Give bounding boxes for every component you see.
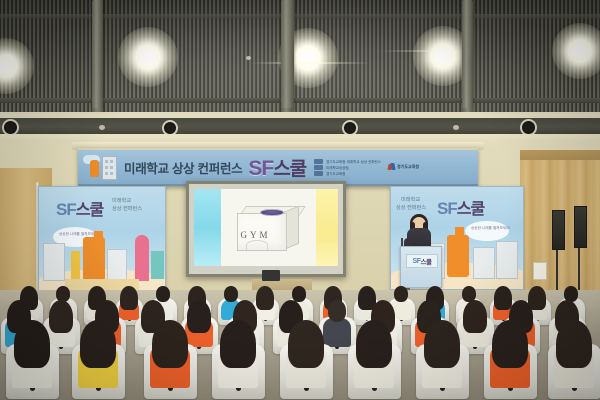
left-banner-sub2: 상상 컨퍼런스 xyxy=(112,206,142,213)
person-head xyxy=(328,300,347,322)
banner-credit-row: 경기도교육청·미래학교 상상 컨퍼런스 xyxy=(314,159,381,164)
lens-flare xyxy=(250,62,370,64)
model-arc xyxy=(246,240,268,250)
person-long-hair xyxy=(220,320,255,368)
left-banner-logo: SF 스쿨 xyxy=(56,196,103,220)
wall-fixture-dot xyxy=(99,125,105,130)
audience-person xyxy=(552,320,596,396)
model-label: GYM xyxy=(240,230,270,240)
person-long-hair xyxy=(14,320,49,368)
ceiling-light-core xyxy=(572,44,587,59)
projection-screen-frame: GYM xyxy=(186,181,346,277)
gov-logo-label: 경기도교육청 xyxy=(397,164,419,170)
roof-column xyxy=(92,0,103,112)
banner-logo-ko: 스쿨 xyxy=(273,154,306,181)
banner-title: 미래학교 상상 컨퍼런스 xyxy=(124,158,242,177)
right-banner-sub1: 미래학교 xyxy=(401,197,420,204)
wall-fixture-dot xyxy=(453,125,459,130)
left-side-banner: SF 스쿨 미래학교 상상 컨퍼런스 상상한 나래를 펼쳐보세요! xyxy=(38,186,166,296)
banner-credit-row: 경기도교육청 xyxy=(314,171,381,176)
audience-person xyxy=(284,320,328,396)
audience-person xyxy=(420,320,464,396)
banner-logo-sf: SF xyxy=(248,157,273,181)
credit-tag xyxy=(314,171,323,176)
left-banner-building xyxy=(83,237,105,281)
person-long-hair xyxy=(80,320,115,368)
left-banner-building xyxy=(107,249,127,281)
person-long-hair xyxy=(288,320,323,368)
audience-person xyxy=(10,320,54,396)
laptop xyxy=(262,270,280,281)
audience-person xyxy=(148,320,192,396)
right-banner-logo-sf: SF xyxy=(437,199,457,219)
ceiling-light-core xyxy=(140,49,156,65)
gov-logo: 경기도교육청 xyxy=(388,163,419,171)
right-banner-building xyxy=(473,247,495,279)
banner-illustration xyxy=(82,152,122,182)
banner-credits: 경기도교육청·미래학교 상상 컨퍼런스 미래학교상상팀 경기도교육청 xyxy=(314,159,381,176)
audience-person xyxy=(352,320,396,396)
podium: SF 스쿨 xyxy=(400,246,442,288)
right-banner-building-top xyxy=(455,227,464,238)
audience-person xyxy=(216,320,260,396)
slide-right-band xyxy=(316,189,338,266)
left-banner-logo-sf: SF xyxy=(56,200,76,220)
audience-person xyxy=(76,320,120,396)
vent-band xyxy=(0,118,600,134)
roof-column xyxy=(462,0,473,112)
podium-logo-sf: SF xyxy=(413,258,421,265)
right-banner-logo: SF 스쿨 xyxy=(437,195,484,219)
credit-text: 경기도교육청·미래학교 상상 컨퍼런스 xyxy=(326,159,381,164)
right-banner-bubble-text: 상상한 나래를 펼쳐보세요! xyxy=(471,226,510,231)
right-banner-building xyxy=(447,235,469,277)
speaker-stand xyxy=(578,246,580,290)
credit-tag xyxy=(314,159,323,164)
left-banner-building xyxy=(71,251,80,279)
left-banner-logo-ko: 스쿨 xyxy=(76,196,103,220)
right-banner-speech-bubble: 상상한 나래를 펼쳐보세요! xyxy=(465,221,509,241)
lens-flare xyxy=(380,50,470,52)
gym-model-photo: GYM xyxy=(237,206,300,249)
credit-text: 경기도교육청 xyxy=(326,171,345,176)
person-long-hair xyxy=(120,286,138,310)
left-banner-building-top xyxy=(94,231,103,243)
credit-text: 미래학교상상팀 xyxy=(326,165,349,170)
left-banner-tower xyxy=(135,235,149,281)
slide-left-band xyxy=(194,189,221,266)
person-long-hair xyxy=(492,320,527,368)
right-banner-logo-ko: 스쿨 xyxy=(457,195,484,219)
presentation-slide: GYM xyxy=(194,189,338,266)
person-long-hair xyxy=(152,320,187,368)
person-long-hair xyxy=(463,300,487,333)
roof-column xyxy=(281,0,294,112)
right-banner-building xyxy=(496,241,518,279)
left-banner-building xyxy=(151,251,164,279)
gov-emblem-icon xyxy=(388,163,395,171)
person-long-hair xyxy=(424,320,459,368)
podium-nameplate: SF 스쿨 xyxy=(406,254,438,268)
podium-logo-ko: 스쿨 xyxy=(420,256,431,266)
model-box-front: GYM xyxy=(237,213,288,251)
left-banner-building xyxy=(43,243,65,281)
banner-logo: SF 스쿨 xyxy=(248,154,306,181)
person-long-hair xyxy=(556,320,591,368)
ceiling-beam xyxy=(0,98,600,103)
ceiling-fixture-dot xyxy=(246,56,251,60)
conference-photo: 미래학교 상상 컨퍼런스 SF 스쿨 경기도교육청·미래학교 상상 컨퍼런스 미… xyxy=(0,0,600,400)
model-roof-opening xyxy=(260,209,283,217)
left-banner-sub1: 미래학교 xyxy=(112,198,131,205)
person-long-hair xyxy=(356,320,391,368)
right-banner-sub2: 상상 컨퍼런스 xyxy=(396,205,426,212)
banner-credit-row: 미래학교상상팀 xyxy=(314,165,381,170)
wall-poster xyxy=(533,262,547,280)
ceiling-beam xyxy=(0,14,600,19)
audience-person xyxy=(488,320,532,396)
speaker-stand xyxy=(556,248,558,290)
slide-content-area: GYM xyxy=(221,189,316,266)
pa-speaker xyxy=(574,206,587,248)
credit-tag xyxy=(314,165,323,170)
projection-screen: GYM xyxy=(189,184,343,274)
pa-speaker xyxy=(552,210,565,250)
